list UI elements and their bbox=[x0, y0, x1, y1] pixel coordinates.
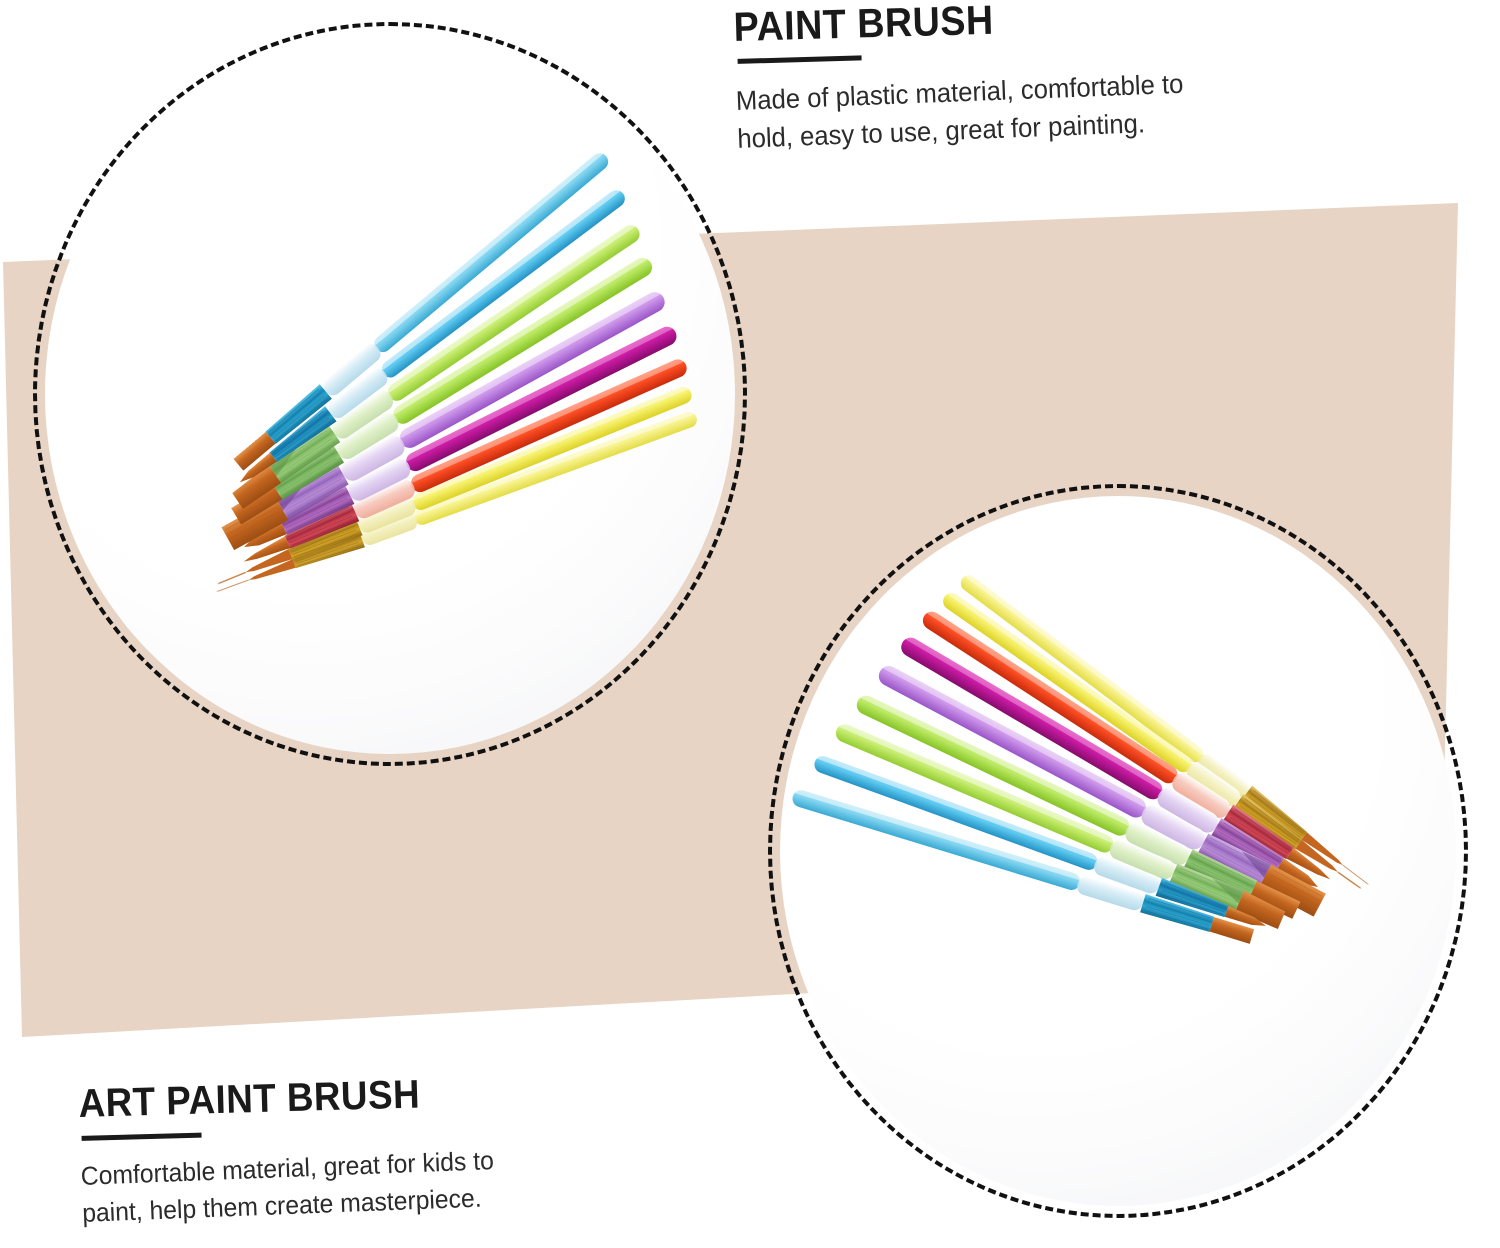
top-body-wrap: Made of plastic material, comfortable to… bbox=[735, 64, 1209, 158]
top-heading-underline bbox=[738, 55, 862, 63]
poster-canvas: PAINT BRUSH Made of plastic material, co… bbox=[0, 0, 1500, 1248]
dashed-circle-border-bottom-right bbox=[768, 484, 1468, 1218]
dashed-circle-border-top-left bbox=[33, 22, 747, 766]
bottom-heading: ART PAINT BRUSH bbox=[78, 1071, 479, 1127]
bottom-body-wrap: Comfortable material, great for kids to … bbox=[80, 1141, 517, 1232]
bottom-text-block: ART PAINT BRUSH Comfortable material, gr… bbox=[78, 1070, 517, 1232]
top-heading: PAINT BRUSH bbox=[733, 0, 1168, 50]
top-text-block: PAINT BRUSH Made of plastic material, co… bbox=[733, 0, 1208, 158]
bottom-heading-underline bbox=[82, 1133, 202, 1141]
